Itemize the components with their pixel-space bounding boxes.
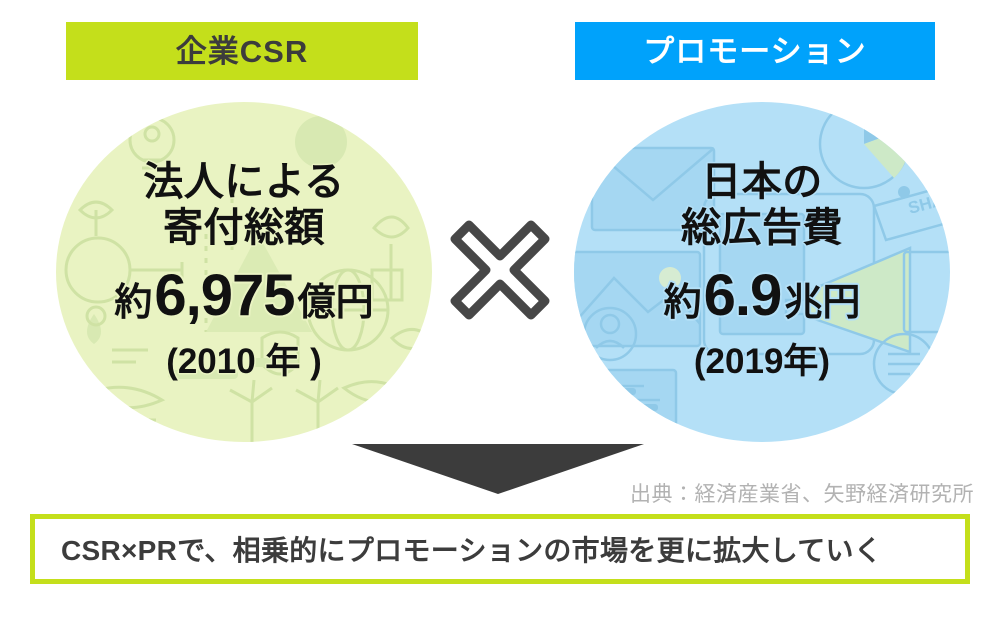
down-arrow-icon	[352, 444, 644, 494]
multiply-x-icon	[443, 213, 557, 327]
conclusion-callout-box: CSR×PRで、相乗的にプロモーションの市場を更に拡大していく	[30, 514, 970, 584]
source-citation: 出典：経済産業省、矢野経済研究所	[630, 478, 974, 508]
banner-promotion: プロモーション	[575, 22, 935, 80]
conclusion-text: CSR×PRで、相乗的にプロモーションの市場を更に拡大していく	[35, 529, 882, 569]
banner-left-label: 企業CSR	[176, 36, 308, 67]
promotion-headline-line1: 日本の	[701, 160, 823, 206]
stat-circle-promotion: SHA 日本の 総広告費 約 6.9 兆円 (2019年)	[574, 102, 950, 442]
stat-circle-csr: 法人による 寄付総額 約 6,975 億円 (2010 年 )	[56, 102, 432, 442]
csr-value: 約 6,975 億円	[114, 262, 373, 329]
csr-stat-text: 法人による 寄付総額 約 6,975 億円 (2010 年 )	[56, 102, 432, 442]
banner-right-label: プロモーション	[643, 36, 866, 67]
promotion-value-number: 6.9	[704, 262, 782, 329]
promotion-value-prefix: 約	[664, 271, 702, 326]
csr-value-unit: 億円	[298, 271, 374, 326]
promotion-value-unit: 兆円	[784, 271, 860, 326]
promotion-value: 約 6.9 兆円	[664, 262, 861, 329]
infographic-root: 企業CSR プロモーション	[0, 0, 1000, 630]
promotion-stat-text: 日本の 総広告費 約 6.9 兆円 (2019年)	[574, 102, 950, 442]
csr-headline-line1: 法人による	[143, 160, 344, 206]
csr-value-year: (2010 年 )	[166, 333, 322, 384]
promotion-headline-line2: 総広告費	[681, 206, 843, 252]
csr-value-prefix: 約	[114, 271, 152, 326]
promotion-value-year: (2019年)	[694, 333, 830, 384]
banner-corporate-csr: 企業CSR	[66, 22, 418, 80]
csr-headline-line2: 寄付総額	[163, 206, 325, 252]
csr-value-number: 6,975	[154, 262, 294, 329]
